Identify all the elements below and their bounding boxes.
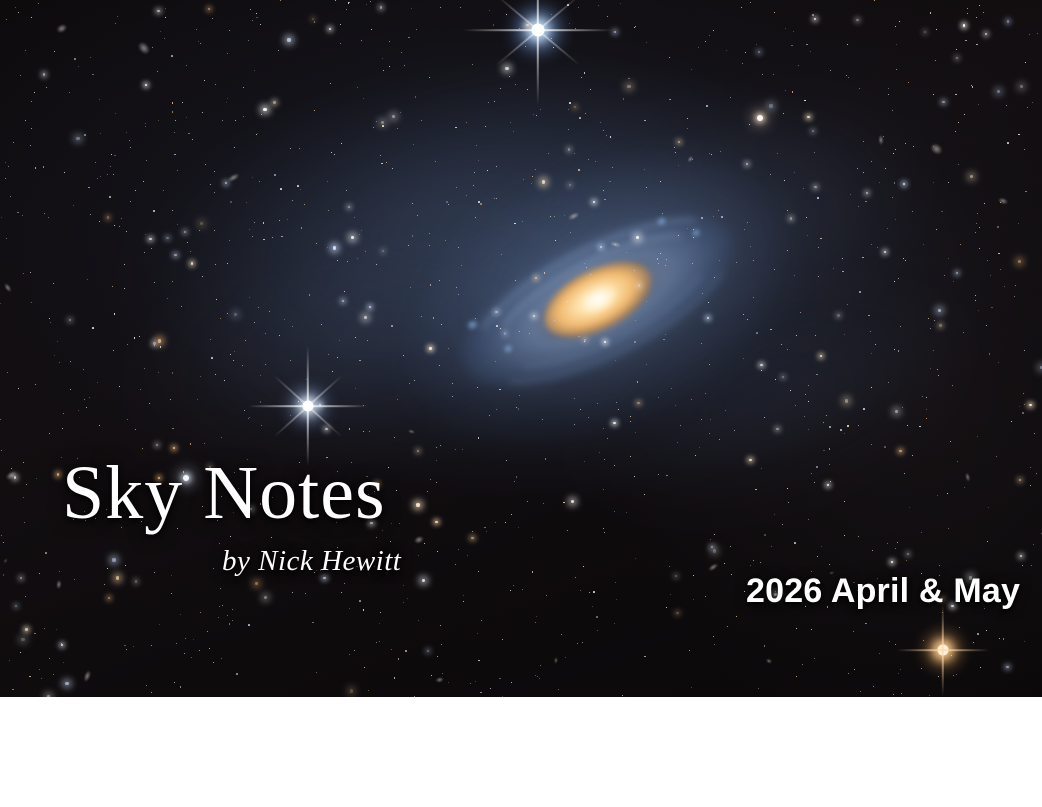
footer-bar: (Written for 23:00 BST in the UK on May … [0,697,1042,807]
issue-date: 2026 April & May [746,572,1020,611]
page-title: Sky Notes [62,455,386,531]
author-byline: by Nick Hewitt [222,545,401,578]
sky-notes-page: Sky Notes by Nick Hewitt 2026 April & Ma… [0,0,1042,807]
hero-astrophoto: Sky Notes by Nick Hewitt 2026 April & Ma… [0,0,1042,697]
